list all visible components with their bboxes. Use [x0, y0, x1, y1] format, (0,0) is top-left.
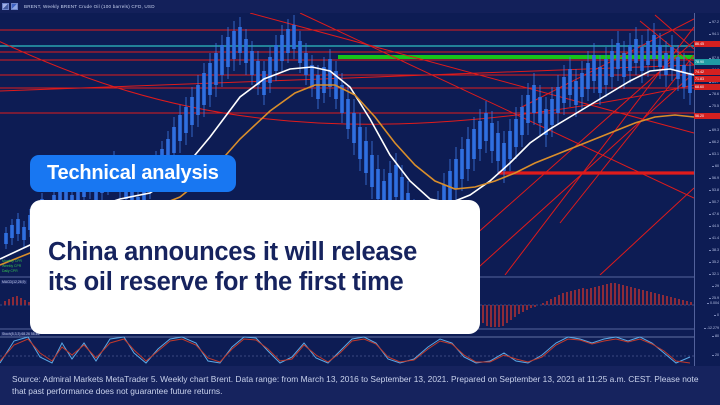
price-tick: 44.5 — [712, 224, 719, 228]
pivot-label-monthly: Monthly CPR — [2, 259, 22, 263]
chart-window-icon[interactable] — [11, 3, 18, 10]
macd-panel-label: MACD(12,26,9) — [1, 280, 27, 284]
headline-line-2: its oil reserve for the first time — [48, 268, 403, 296]
price-tick: 41.4 — [712, 236, 719, 240]
headline-callout: China announces it will release its oil … — [30, 200, 480, 334]
price-tag: 78.90 — [694, 59, 720, 65]
price-tick: 56.9 — [712, 176, 719, 180]
price-tick: 60 — [715, 164, 719, 168]
pivot-label-daily: Daily CPR — [2, 269, 18, 273]
price-tick: 29 — [715, 284, 719, 288]
chart-titlebar: BRENT, Weekly BRENT Crude Oil (100 barre… — [0, 0, 720, 13]
price-tag: 68.60 — [694, 84, 720, 90]
price-tick: 97.2 — [712, 20, 719, 24]
headline-text: China announces it will release its oil … — [48, 237, 417, 297]
price-tag: 86.45 — [694, 41, 720, 47]
source-text: Source: Admiral Markets MetaTrader 5. We… — [12, 373, 708, 397]
price-tick: 50.7 — [712, 200, 719, 204]
stoch-tick: 80 — [715, 334, 719, 338]
price-tick: 53.8 — [712, 188, 719, 192]
price-scale[interactable]: 97.2 94.1 91 87.9 84.8 81.7 78.6 75.5 72… — [694, 13, 720, 366]
price-tick: 69.3 — [712, 128, 719, 132]
price-tag: 56.20 — [694, 113, 720, 119]
macd-tick: 0.004 — [710, 301, 719, 305]
restore-window-icon[interactable] — [2, 3, 9, 10]
price-tick: 47.6 — [712, 212, 719, 216]
price-tick: 63.1 — [712, 152, 719, 156]
technical-analysis-graphic: BRENT, Weekly BRENT Crude Oil (100 barre… — [0, 0, 720, 405]
source-footer: Source: Admiral Markets MetaTrader 5. We… — [0, 366, 720, 405]
price-tick: 78.6 — [712, 92, 719, 96]
price-tick: 66.2 — [712, 140, 719, 144]
price-tick: 75.5 — [712, 104, 719, 108]
technical-analysis-badge: Technical analysis — [30, 155, 236, 192]
price-tick: 38.3 — [712, 248, 719, 252]
chart-symbol-title: BRENT, Weekly BRENT Crude Oil (100 barre… — [24, 4, 155, 9]
macd-tick: 0 — [717, 313, 719, 317]
stoch-tick: 20 — [715, 353, 719, 357]
price-tick: 35.2 — [712, 260, 719, 264]
price-tag: 74.42 — [694, 69, 720, 75]
price-tag: 71.83 — [694, 76, 720, 82]
price-tick: 32.1 — [712, 272, 719, 276]
price-tick: 94.1 — [712, 32, 719, 36]
macd-tick: -12.279 — [707, 326, 719, 330]
price-tick: 25.9 — [712, 296, 719, 300]
headline-line-1: China announces it will release — [48, 238, 417, 266]
pivot-label-weekly: Weekly CPR — [2, 264, 21, 268]
stoch-panel-label: Stoch(5,3,3) 68.26 58.46 — [1, 332, 40, 336]
